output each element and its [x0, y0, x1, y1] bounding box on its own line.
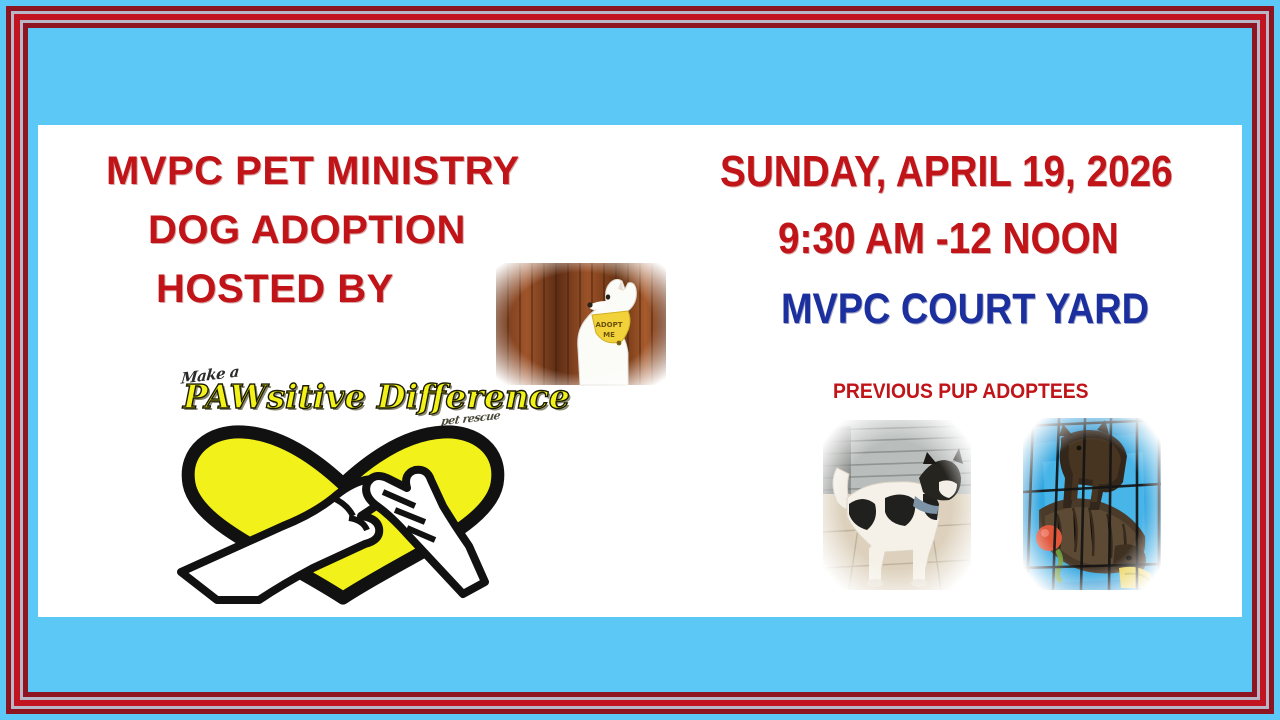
- previous-adoptees-caption: PREVIOUS PUP ADOPTEES: [833, 380, 1089, 404]
- heart-handshake-icon: [163, 422, 523, 607]
- headline-line-1: MVPC PET MINISTRY: [106, 149, 520, 194]
- event-time: 9:30 AM -12 NOON: [778, 214, 1119, 264]
- crate-puppies-illustration: [1023, 418, 1161, 590]
- spotted-dog-illustration: [823, 420, 971, 590]
- headline-line-3: HOSTED BY: [156, 267, 394, 312]
- content-panel: MVPC PET MINISTRY DOG ADOPTION HOSTED BY: [38, 125, 1242, 617]
- event-venue: MVPC COURT YARD: [781, 285, 1149, 334]
- photo-adoptee-spotted-dog: [823, 420, 971, 590]
- headline-line-2: DOG ADOPTION: [148, 208, 466, 253]
- photo-adoptee-crate-puppies: [1023, 418, 1161, 590]
- logo-main-text: PAWsitive Difference: [183, 377, 570, 416]
- left-column: MVPC PET MINISTRY DOG ADOPTION HOSTED BY: [38, 125, 638, 617]
- right-column: SUNDAY, APRIL 19, 2026 9:30 AM -12 NOON …: [638, 125, 1242, 617]
- event-date: SUNDAY, APRIL 19, 2026: [720, 147, 1173, 197]
- pawsitive-difference-logo: Make a PAWsitive Difference pet rescue: [153, 360, 533, 610]
- flyer-poster: MVPC PET MINISTRY DOG ADOPTION HOSTED BY: [0, 0, 1280, 720]
